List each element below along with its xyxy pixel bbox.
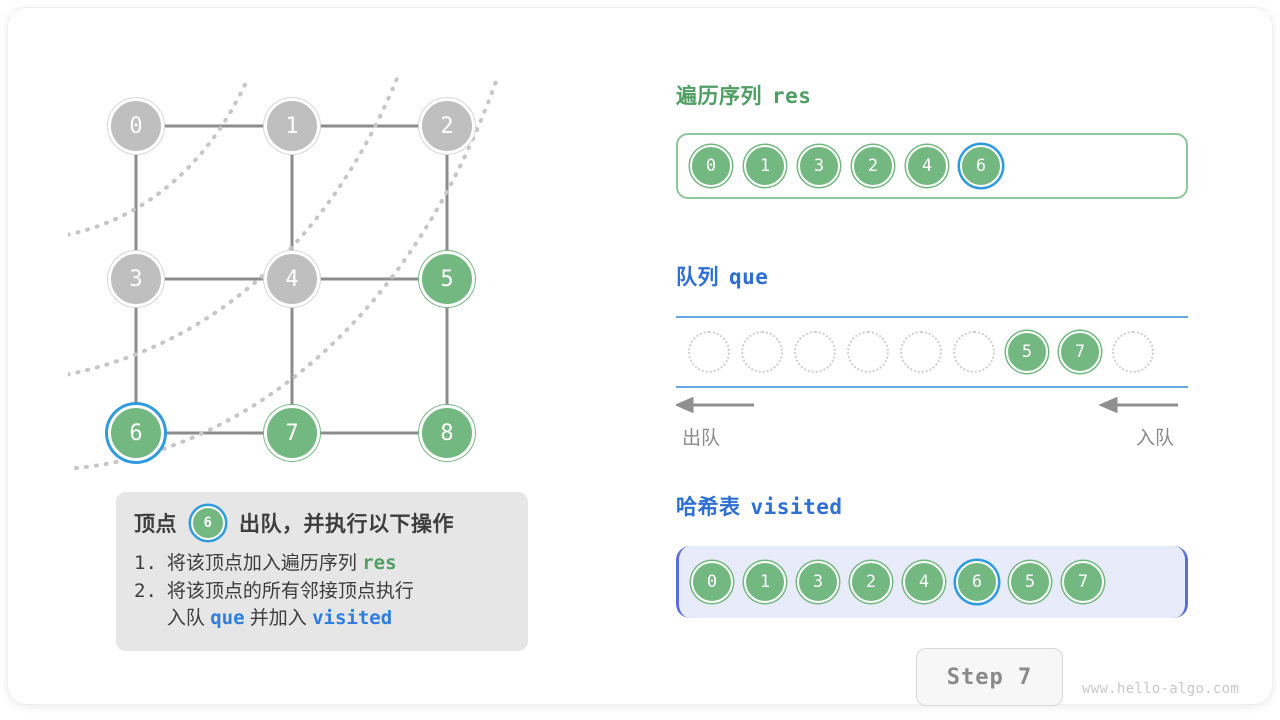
caption-head-suffix: 出队，并执行以下操作 [239, 508, 454, 538]
res-container: 013246 [676, 133, 1188, 199]
queue-enqueue-label: 入队 [1136, 423, 1174, 450]
caption-step-1-number: 1. [134, 550, 157, 578]
caption-step-1-text: 将该顶点加入遍历序列 res [167, 550, 397, 578]
queue-slot-7: 7 [1059, 331, 1101, 373]
graph-node-2[interactable]: 2 [419, 98, 475, 154]
res-title-cn: 遍历序列 [676, 85, 762, 108]
visited-section-title: 哈希表visited [676, 491, 843, 521]
caption-step-2-code-visited: visited [312, 607, 392, 629]
que-title-cn: 队列 [676, 266, 719, 289]
queue-slot-4 [900, 331, 942, 373]
graph-node-0[interactable]: 0 [108, 98, 164, 154]
caption-step-2-text: 将该顶点的所有邻接顶点执行 入队 que 并加入 visited [167, 578, 414, 633]
visited-item-5: 6 [956, 561, 998, 603]
res-item-0: 0 [690, 145, 732, 187]
queue-slot-2 [794, 331, 836, 373]
visited-item-6: 5 [1009, 561, 1051, 603]
graph-node-6[interactable]: 6 [108, 405, 164, 461]
right-column: 遍历序列res 013246 队列que 57 出队 入队 哈希表visited [676, 8, 1196, 720]
graph-node-8[interactable]: 8 [419, 405, 475, 461]
caption-step-1-body: 将该顶点加入遍历序列 [167, 553, 357, 574]
graph-node-5[interactable]: 5 [419, 251, 475, 307]
caption-step-1: 1. 将该顶点加入遍历序列 res [134, 550, 510, 578]
que-section-title: 队列que [676, 261, 768, 291]
visited-item-1: 1 [744, 561, 786, 603]
res-item-2: 3 [798, 145, 840, 187]
queue-slot-6: 5 [1006, 331, 1048, 373]
visited-title-code: visited [751, 495, 843, 519]
queue-direction-arrows [676, 394, 1188, 416]
caption-step-2-body-c: 并加入 [250, 608, 307, 629]
graph-node-7[interactable]: 7 [264, 405, 320, 461]
caption-headline: 顶点 6 出队，并执行以下操作 [134, 506, 510, 540]
res-item-1: 1 [744, 145, 786, 187]
queue-slot-5 [953, 331, 995, 373]
screenshot-root: 012345678 顶点 6 出队，并执行以下操作 1. 将该顶点加入遍历序列 … [0, 0, 1280, 720]
queue-slot-1 [741, 331, 783, 373]
visited-item-0: 0 [691, 561, 733, 603]
caption-step-1-code: res [362, 552, 396, 574]
queue-slot-3 [847, 331, 889, 373]
visited-container: 01324657 [676, 546, 1188, 618]
visited-item-4: 4 [903, 561, 945, 603]
queue-slot-8 [1112, 331, 1154, 373]
queue-container: 57 [676, 316, 1188, 388]
res-title-code: res [772, 84, 811, 108]
caption-box: 顶点 6 出队，并执行以下操作 1. 将该顶点加入遍历序列 res 2. 将该顶… [116, 492, 528, 651]
caption-vertex-chip: 6 [191, 506, 225, 540]
visited-item-3: 2 [850, 561, 892, 603]
step-badge: Step 7 [916, 648, 1063, 706]
graph-node-4[interactable]: 4 [264, 251, 320, 307]
queue-slot-0 [688, 331, 730, 373]
res-item-3: 2 [852, 145, 894, 187]
caption-step-2-code-que: que [210, 607, 244, 629]
watermark: www.hello-algo.com [1082, 681, 1239, 697]
res-item-4: 4 [906, 145, 948, 187]
graph-panel: 012345678 [68, 58, 628, 498]
graph-node-1[interactable]: 1 [264, 98, 320, 154]
res-section-title: 遍历序列res [676, 80, 811, 110]
content-card: 012345678 顶点 6 出队，并执行以下操作 1. 将该顶点加入遍历序列 … [8, 8, 1272, 704]
visited-title-cn: 哈希表 [676, 496, 741, 519]
caption-step-2-body-b: 入队 [167, 608, 205, 629]
graph-node-3[interactable]: 3 [108, 251, 164, 307]
caption-step-2: 2. 将该顶点的所有邻接顶点执行 入队 que 并加入 visited [134, 578, 510, 633]
que-title-code: que [729, 265, 768, 289]
visited-item-7: 7 [1062, 561, 1104, 603]
caption-step-2-body-a: 将该顶点的所有邻接顶点执行 [167, 581, 414, 602]
res-item-5: 6 [960, 145, 1002, 187]
caption-step-2-number: 2. [134, 578, 157, 633]
queue-dequeue-label: 出队 [682, 423, 720, 450]
caption-head-prefix: 顶点 [134, 508, 177, 538]
visited-item-2: 3 [797, 561, 839, 603]
